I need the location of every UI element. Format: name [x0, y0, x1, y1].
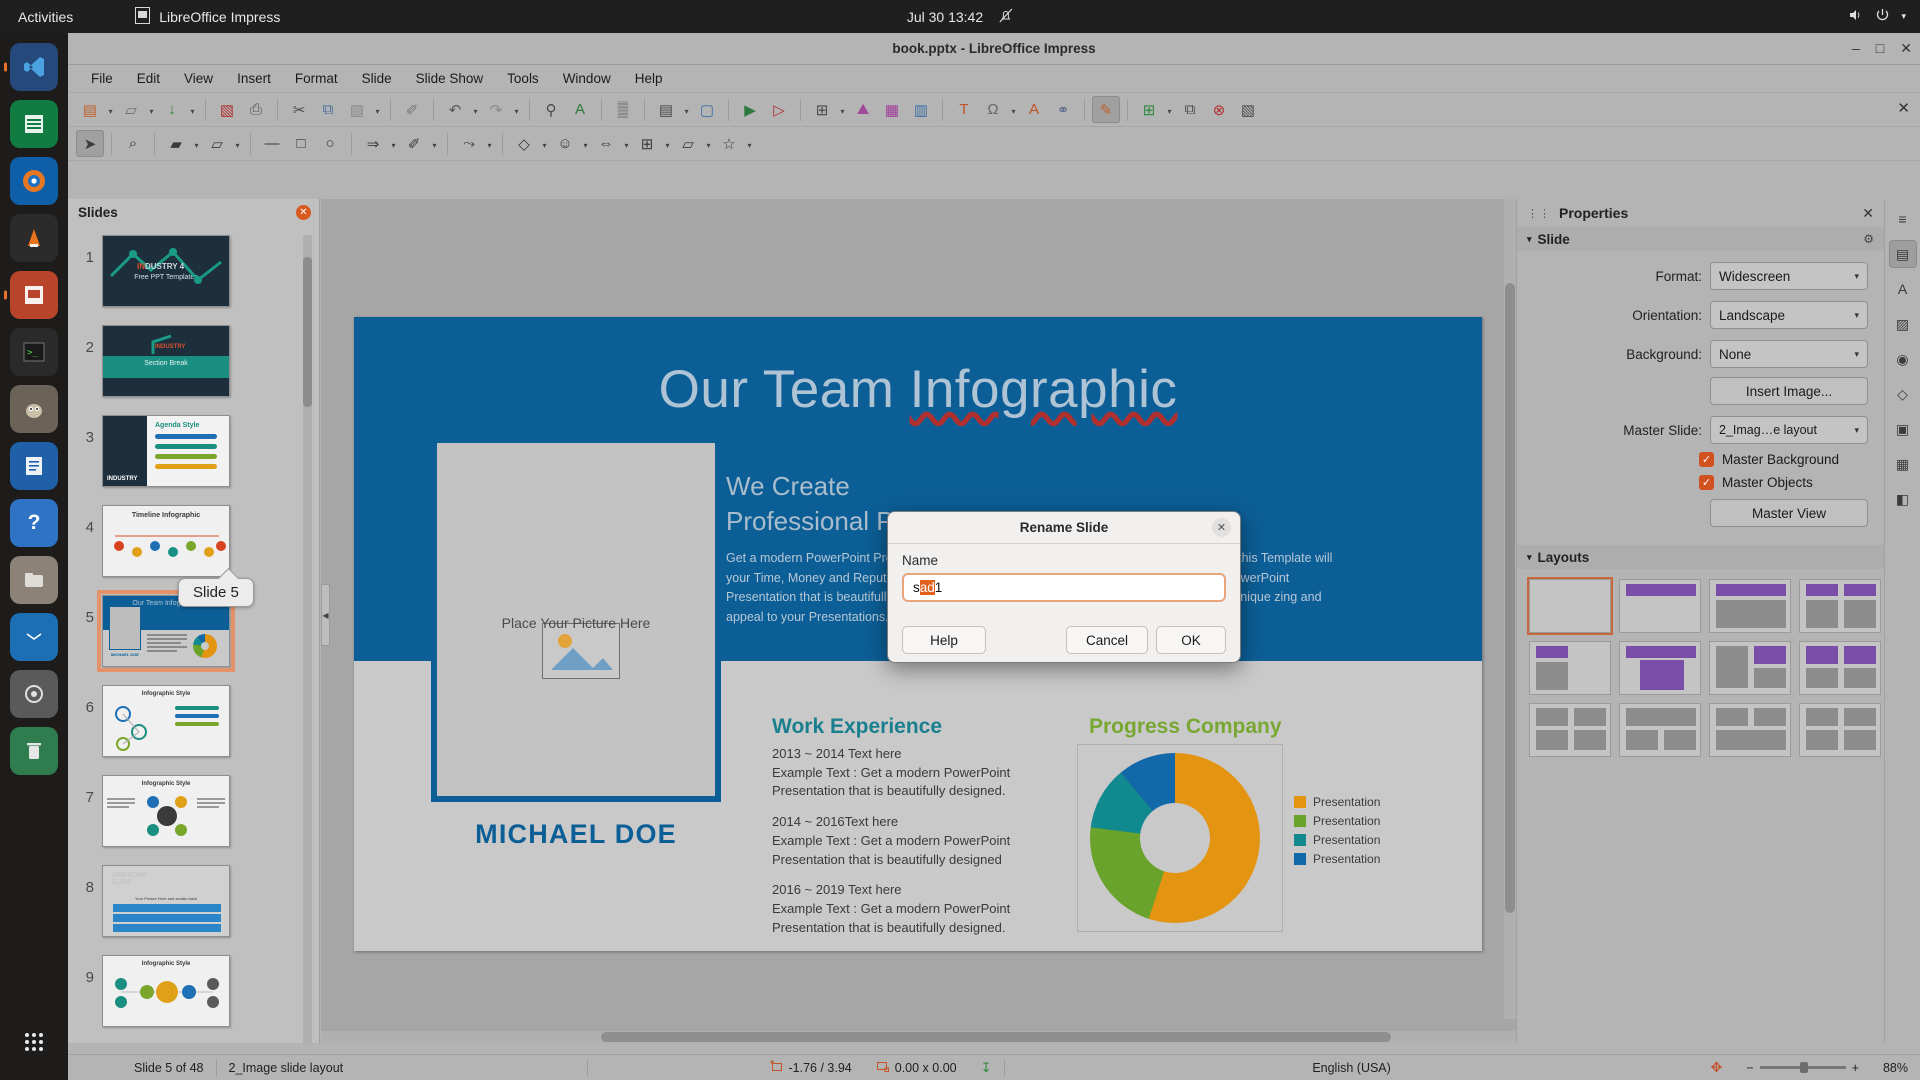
slide-subheading-line1: We Create — [726, 469, 1022, 504]
layout-block — [1626, 708, 1696, 726]
display-grid-icon[interactable]: ▒ — [609, 96, 637, 123]
layout-block — [1536, 730, 1568, 750]
menu-view[interactable]: View — [173, 68, 224, 89]
chevron-down-icon[interactable]: ▾ — [429, 130, 440, 157]
image-icon — [542, 623, 620, 679]
slide-thumbnail-preview[interactable]: Section BreakINDUSTRY — [102, 325, 230, 397]
master-view-button[interactable]: Master View — [1710, 499, 1868, 527]
layout-block — [1844, 668, 1876, 688]
layout-option-3[interactable] — [1709, 579, 1791, 633]
menu-file[interactable]: File — [80, 68, 124, 89]
orientation-row: Orientation: Landscape ▾ — [1517, 301, 1868, 329]
master-slide-dropdown[interactable]: 2_Imag…e layout ▾ — [1710, 416, 1868, 444]
slide-number: 8 — [72, 865, 102, 896]
chevron-down-icon[interactable]: ▾ — [1008, 96, 1019, 123]
layout-option-9[interactable] — [1529, 703, 1611, 757]
activities-button[interactable]: Activities — [18, 9, 73, 25]
layout-option-7[interactable] — [1709, 641, 1791, 695]
layout-option-11[interactable] — [1709, 703, 1791, 757]
clock-area[interactable]: Jul 30 13:42 — [907, 8, 1013, 26]
active-app-indicator[interactable]: LibreOffice Impress — [135, 7, 280, 27]
position-icon — [770, 1060, 783, 1075]
export-pdf-icon[interactable]: ▧ — [213, 96, 241, 123]
delete-slide-icon[interactable]: ⊗ — [1205, 96, 1233, 123]
layout-block — [1806, 708, 1838, 726]
chevron-down-icon[interactable]: ▾ — [372, 96, 383, 123]
name-input[interactable]: sad1 — [902, 573, 1226, 602]
cursor-position: -1.76 / 3.94 — [758, 1059, 864, 1077]
master-background-label: Master Background — [1722, 452, 1839, 467]
format-row: Format: Widescreen ▾ — [1517, 262, 1868, 290]
svg-text:>_: >_ — [27, 348, 38, 358]
select-tool-icon[interactable]: ➤ — [76, 130, 104, 157]
background-dropdown[interactable]: None ▾ — [1710, 340, 1868, 368]
new-document-icon[interactable]: ▤ — [76, 96, 104, 123]
symbol-shapes-icon[interactable]: ☺ — [551, 130, 579, 157]
bell-muted-icon — [999, 8, 1013, 26]
slide-thumbnail-preview[interactable]: Infographic Style — [102, 775, 230, 847]
legend-item: Presentation — [1294, 795, 1380, 809]
clock-label: Jul 30 13:42 — [907, 9, 983, 25]
basic-shapes-icon[interactable]: ◇ — [510, 130, 538, 157]
menu-edit[interactable]: Edit — [126, 68, 171, 89]
slide-thumbnail-preview[interactable]: Infographic Style — [102, 955, 230, 1027]
chevron-down-icon: ▾ — [1854, 271, 1859, 282]
insert-image-icon[interactable]: ⛰ — [849, 96, 877, 123]
layout-block — [1754, 646, 1786, 664]
slide-panel: Slides ✕ 1Free PPT TemplatesINDUSTRY 42S… — [68, 199, 320, 1043]
insert-table-icon[interactable]: ⊞ — [808, 96, 836, 123]
layout-gallery[interactable] — [1517, 569, 1884, 757]
slide-thumbnail-list[interactable]: 1Free PPT TemplatesINDUSTRY 42Section Br… — [68, 229, 306, 1043]
legend-swatch — [1294, 853, 1306, 865]
zoom-out-button[interactable]: − — [1746, 1061, 1753, 1075]
slide-thumbnail-preview[interactable]: Infographic Style — [102, 685, 230, 757]
chevron-down-icon[interactable]: ▾ — [703, 130, 714, 157]
layout-option-2[interactable] — [1619, 579, 1701, 633]
flowchart-shapes-icon[interactable]: ⊞ — [633, 130, 661, 157]
slide-thumbnail-7[interactable]: 7Infographic Style — [68, 775, 306, 847]
show-applications-button[interactable] — [10, 1018, 58, 1066]
master-slides-icon[interactable]: ▣ — [1889, 415, 1917, 443]
layout-option-4[interactable] — [1799, 579, 1881, 633]
dock-item-impress[interactable] — [10, 271, 58, 319]
menu-slide-show[interactable]: Slide Show — [405, 68, 495, 89]
input-value-suffix: 1 — [935, 580, 943, 595]
picture-placeholder[interactable]: Place Your Picture Here — [431, 437, 721, 802]
stars-and-banners-icon[interactable]: ☆ — [715, 130, 743, 157]
connectors-icon[interactable]: ⤳ — [455, 130, 483, 157]
block-arrows-icon[interactable]: ⇔ — [592, 130, 620, 157]
work-experience-item: 2013 ~ 2014 Text hereExample Text : Get … — [772, 745, 1072, 801]
close-icon[interactable]: ✕ — [296, 205, 311, 220]
checkbox-checked-icon: ✓ — [1699, 475, 1714, 490]
ellipse-icon[interactable]: ○ — [316, 130, 344, 157]
layout-block — [1716, 600, 1786, 628]
zoom-tool-icon[interactable]: ⌕ — [119, 130, 147, 157]
layout-block — [1806, 646, 1838, 664]
legend-item: Presentation — [1294, 852, 1380, 866]
properties-icon[interactable]: ▤ — [1889, 240, 1917, 268]
work-experience-heading[interactable]: Work Experience — [772, 715, 942, 739]
print-icon[interactable]: ⎙ — [242, 96, 270, 123]
slide-panel-title: Slides — [78, 205, 118, 220]
master-background-checkbox[interactable]: ✓ Master Background — [1699, 452, 1884, 467]
slide-thumbnail-6[interactable]: 6Infographic Style — [68, 685, 306, 757]
layout-name: 2_Image slide layout — [217, 1059, 587, 1077]
legend-swatch — [1294, 834, 1306, 846]
slide-thumbnail-4[interactable]: 4Timeline Infographic — [68, 505, 306, 577]
legend-item: Presentation — [1294, 833, 1380, 847]
save-status-icon[interactable]: ↧ — [969, 1059, 1004, 1077]
edit-area-horizontal-scrollbar[interactable] — [321, 1031, 1516, 1043]
legend-label: Presentation — [1313, 852, 1380, 866]
insert-hyperlink-icon[interactable]: ⚭ — [1049, 96, 1077, 123]
donut-chart — [1090, 753, 1260, 923]
rectangle-icon[interactable]: □ — [287, 130, 315, 157]
panel-collapse-handle-left[interactable]: ◀ — [321, 584, 330, 646]
work-experience-period: 2013 ~ 2014 Text here — [772, 745, 1072, 764]
show-draw-functions-icon[interactable]: ✎ — [1092, 96, 1120, 123]
master-objects-label: Master Objects — [1722, 475, 1813, 490]
progress-chart[interactable] — [1077, 744, 1283, 932]
chevron-down-icon: ▾ — [1854, 349, 1859, 360]
chevron-down-icon[interactable]: ▾ — [187, 96, 198, 123]
layout-block — [1716, 730, 1786, 750]
find-and-replace-icon[interactable]: ⚲ — [537, 96, 565, 123]
chevron-down-icon[interactable]: ▾ — [232, 130, 243, 157]
maximize-button[interactable]: □ — [1876, 40, 1884, 57]
insert-fontwork-icon[interactable]: A — [1020, 96, 1048, 123]
layout-block — [1844, 730, 1876, 750]
layout-block — [1844, 708, 1876, 726]
fill-color-icon[interactable]: ▰ — [162, 130, 190, 157]
gnome-top-bar: Activities LibreOffice Impress Jul 30 13… — [0, 0, 1920, 33]
ubuntu-dock: >_ ? — [0, 33, 68, 1080]
close-button[interactable]: ✕ — [1900, 40, 1912, 57]
help-button[interactable]: Help — [902, 626, 986, 654]
chevron-down-icon[interactable]: ▾ — [681, 96, 692, 123]
work-experience-line1: Example Text : Get a modern PowerPoint — [772, 764, 1072, 783]
open-document-icon[interactable]: ▱ — [117, 96, 145, 123]
chevron-down-icon[interactable]: ▾ — [105, 96, 116, 123]
redo-icon[interactable]: ↷ — [482, 96, 510, 123]
menu-help[interactable]: Help — [624, 68, 674, 89]
dock-item-terminal[interactable]: >_ — [10, 328, 58, 376]
work-experience-line2: Presentation that is beautifully designe… — [772, 782, 1072, 801]
chevron-down-icon[interactable]: ▾ — [484, 130, 495, 157]
status-spacer-2 — [588, 1059, 758, 1077]
menu-format[interactable]: Format — [284, 68, 349, 89]
slide-thumbnail-2[interactable]: 2Section BreakINDUSTRY — [68, 325, 306, 397]
scrollbar-thumb[interactable] — [1505, 283, 1515, 913]
window-title: book.pptx - LibreOffice Impress — [892, 41, 1095, 56]
gallery-icon[interactable]: ▨ — [1889, 310, 1917, 338]
ok-button[interactable]: OK — [1156, 626, 1226, 654]
close-icon[interactable]: ✕ — [1862, 205, 1874, 222]
layout-block — [1806, 600, 1838, 628]
person-name[interactable]: MICHAEL DOE — [431, 819, 721, 850]
work-experience-line1: Example Text : Get a modern PowerPoint — [772, 900, 1072, 919]
scrollbar-thumb[interactable] — [303, 257, 312, 407]
slide-number: 3 — [72, 415, 102, 446]
slide-number: 9 — [72, 955, 102, 986]
layout-block — [1664, 730, 1696, 750]
orientation-dropdown[interactable]: Landscape ▾ — [1710, 301, 1868, 329]
undo-icon[interactable]: ↶ — [441, 96, 469, 123]
language-indicator[interactable]: English (USA) — [1005, 1059, 1699, 1077]
slide-title-text-plain: Our Team — [659, 360, 910, 419]
chevron-down-icon[interactable]: ▾ — [837, 96, 848, 123]
layout-block — [1806, 668, 1838, 688]
duplicate-slide-icon[interactable]: ⧉ — [1176, 96, 1204, 123]
chevron-down-icon: ▾ — [1854, 425, 1859, 436]
chevron-down-icon[interactable]: ▾ — [191, 130, 202, 157]
layout-block — [1844, 646, 1876, 664]
chevron-down-icon[interactable]: ▾ — [744, 130, 755, 157]
drawing-toolbar: ➤⌕▰▾▱▾―□○⇒▾✐▾⤳▾◇▾☺▾⇔▾⊞▾▱▾☆▾ — [68, 127, 1920, 161]
fit-slide-icon[interactable]: ✥ — [1699, 1059, 1735, 1077]
status-bar: Slide 5 of 48 2_Image slide layout -1.76… — [68, 1054, 1920, 1080]
slide-panel-header: Slides ✕ — [68, 199, 319, 225]
background-value: None — [1719, 347, 1751, 362]
save-document-icon[interactable]: ↓ — [158, 96, 186, 123]
layout-block — [1626, 584, 1696, 596]
chevron-down-icon: ▾ — [1901, 11, 1906, 22]
drag-grip-icon[interactable]: ⋮⋮ — [1527, 207, 1551, 220]
dock-item-firefox[interactable] — [10, 157, 58, 205]
menu-window[interactable]: Window — [552, 68, 622, 89]
legend-label: Presentation — [1313, 795, 1380, 809]
start-from-first-slide-icon[interactable]: ▶ — [736, 96, 764, 123]
insert-chart-icon[interactable]: ▥ — [907, 96, 935, 123]
menu-bar: File Edit View Insert Format Slide Slide… — [68, 65, 1920, 93]
menu-tools[interactable]: Tools — [496, 68, 550, 89]
zoom-slider[interactable]: − + — [1734, 1059, 1871, 1077]
dialog-title-bar: Rename Slide ✕ — [888, 512, 1240, 544]
input-value-prefix: s — [913, 580, 920, 595]
dock-item-files[interactable] — [10, 556, 58, 604]
chevron-down-icon[interactable]: ▾ — [146, 96, 157, 123]
shapes-icon[interactable]: ◇ — [1889, 380, 1917, 408]
spelling-icon[interactable]: A — [566, 96, 594, 123]
scrollbar-thumb[interactable] — [601, 1032, 1391, 1042]
rename-slide-dialog[interactable]: Rename Slide ✕ Name sad1 Help Cancel OK — [887, 511, 1241, 663]
clone-formatting-icon[interactable]: ✐ — [398, 96, 426, 123]
dock-item-vlc[interactable] — [10, 214, 58, 262]
layout-block — [1716, 584, 1786, 596]
display-views-icon[interactable]: ▤ — [652, 96, 680, 123]
input-value-selected: ad — [920, 580, 935, 595]
work-experience-line2: Presentation that is beautifully designe… — [772, 919, 1072, 938]
slide-thumbnail-preview[interactable]: Agenda StyleINDUSTRY — [102, 415, 230, 487]
menu-slide[interactable]: Slide — [351, 68, 403, 89]
close-icon[interactable]: ✕ — [1212, 518, 1231, 537]
layouts-section-label: Layouts — [1538, 550, 1590, 565]
chart-legend: PresentationPresentationPresentationPres… — [1294, 795, 1380, 871]
background-label: Background: — [1626, 347, 1702, 362]
format-dropdown[interactable]: Widescreen ▾ — [1710, 262, 1868, 290]
object-size: 0.00 x 0.00 — [864, 1059, 969, 1077]
dock-item-thunderbird[interactable] — [10, 613, 58, 661]
dock-item-vscode[interactable] — [10, 43, 58, 91]
dock-item-writer[interactable] — [10, 442, 58, 490]
layout-option-6[interactable] — [1619, 641, 1701, 695]
minimize-button[interactable]: – — [1852, 40, 1860, 57]
chevron-down-icon[interactable]: ▾ — [1164, 96, 1175, 123]
layout-block — [1574, 730, 1606, 750]
slide-transition-icon[interactable]: ◧ — [1889, 485, 1917, 513]
styles-icon[interactable]: A — [1889, 275, 1917, 303]
arrow-shape-icon[interactable]: ⇒ — [359, 130, 387, 157]
legend-label: Presentation — [1313, 833, 1380, 847]
layout-option-5[interactable] — [1529, 641, 1611, 695]
insert-media-icon[interactable]: ▦ — [878, 96, 906, 123]
new-slide-icon[interactable]: ⊞ — [1135, 96, 1163, 123]
slide-number: 5 — [72, 595, 102, 626]
dock-item-help[interactable]: ? — [10, 499, 58, 547]
chevron-down-icon[interactable]: ▾ — [662, 130, 673, 157]
layout-block — [1806, 730, 1838, 750]
active-app-label: LibreOffice Impress — [159, 9, 280, 25]
layout-block — [1626, 646, 1696, 658]
dialog-buttons: Help Cancel OK — [888, 626, 1240, 654]
name-label: Name — [902, 553, 1240, 568]
layout-option-12[interactable] — [1799, 703, 1881, 757]
properties-sidebar: ⋮⋮ Properties ✕ ▾ Slide ⚙ Format: Widesc… — [1516, 199, 1884, 1043]
chevron-down-icon[interactable]: ▾ — [511, 96, 522, 123]
work-experience-item: 2016 ~ 2019 Text hereExample Text : Get … — [772, 881, 1072, 937]
checkbox-checked-icon: ✓ — [1699, 452, 1714, 467]
layout-block — [1716, 646, 1748, 688]
chevron-down-icon[interactable]: ▾ — [470, 96, 481, 123]
dock-item-trash[interactable] — [10, 727, 58, 775]
copy-icon[interactable]: ⧉ — [314, 96, 342, 123]
chevron-down-icon[interactable]: ▾ — [388, 130, 399, 157]
slide-properties-icon[interactable]: ▧ — [1234, 96, 1262, 123]
slide-thumbnail-preview[interactable]: Timeline Infographic — [102, 505, 230, 577]
gear-icon[interactable]: ⚙ — [1863, 232, 1874, 246]
start-from-current-slide-icon[interactable]: ▷ — [765, 96, 793, 123]
animation-icon[interactable]: ▦ — [1889, 450, 1917, 478]
orientation-label: Orientation: — [1632, 308, 1702, 323]
chevron-down-icon: ▾ — [1527, 552, 1532, 563]
format-value: Widescreen — [1719, 269, 1790, 284]
dialog-title: Rename Slide — [1020, 520, 1109, 535]
orientation-value: Landscape — [1719, 308, 1785, 323]
master-slide-label: Master Slide: — [1623, 423, 1702, 438]
work-experience-list[interactable]: 2013 ~ 2014 Text hereExample Text : Get … — [772, 745, 1072, 949]
standard-toolbar: ▤▾▱▾↓▾▧⎙✂⧉▧▾✐↶▾↷▾⚲A▒▤▾▢▶▷⊞▾⛰▦▥TΩ▾A⚭✎⊞▾⧉⊗… — [68, 93, 1920, 127]
slide-title[interactable]: Our Team Infographic — [354, 359, 1482, 420]
slide-thumbnail-3[interactable]: 3Agenda StyleINDUSTRY — [68, 415, 306, 487]
work-experience-line2: Presentation that is beautifully designe… — [772, 851, 1072, 870]
legend-swatch — [1294, 815, 1306, 827]
zoom-knob[interactable] — [1800, 1062, 1808, 1073]
properties-title: Properties — [1559, 205, 1628, 221]
system-tray[interactable]: ▾ — [1848, 8, 1906, 25]
menu-insert[interactable]: Insert — [226, 68, 282, 89]
layout-block — [1716, 708, 1748, 726]
edit-area-vertical-scrollbar[interactable] — [1504, 199, 1516, 1019]
chevron-down-icon: ▾ — [1527, 234, 1532, 245]
insert-text-box-icon[interactable]: T — [950, 96, 978, 123]
legend-swatch — [1294, 796, 1306, 808]
insert-special-character-icon[interactable]: Ω — [979, 96, 1007, 123]
chevron-down-icon[interactable]: ▾ — [621, 130, 632, 157]
insert-line-icon[interactable]: ― — [258, 130, 286, 157]
master-slide-row: Master Slide: 2_Imag…e layout ▾ — [1517, 416, 1868, 444]
zoom-level[interactable]: 88% — [1871, 1059, 1920, 1077]
layout-block — [1806, 584, 1838, 596]
volume-icon — [1848, 8, 1864, 25]
line-color-icon[interactable]: ▱ — [203, 130, 231, 157]
slide-section-header[interactable]: ▾ Slide ⚙ — [1517, 227, 1884, 251]
insert-image-button[interactable]: Insert Image... — [1710, 377, 1868, 405]
background-row: Background: None ▾ — [1517, 340, 1868, 368]
chevron-down-icon: ▾ — [1854, 310, 1859, 321]
slide-thumbnail-1[interactable]: 1Free PPT TemplatesINDUSTRY 4 — [68, 235, 306, 307]
impress-document-icon — [135, 7, 150, 27]
chevron-down-icon[interactable]: ▾ — [539, 130, 550, 157]
slide-number: 2 — [72, 325, 102, 356]
dock-item-settings[interactable] — [10, 670, 58, 718]
slide-thumbnail-9[interactable]: 9Infographic Style — [68, 955, 306, 1027]
cut-icon[interactable]: ✂ — [285, 96, 313, 123]
work-experience-period: 2016 ~ 2019 Text here — [772, 881, 1072, 900]
window-controls[interactable]: – □ ✕ — [1852, 40, 1912, 57]
sidebar-settings-icon[interactable]: ≡ — [1889, 205, 1917, 233]
layout-option-10[interactable] — [1619, 703, 1701, 757]
layouts-section-header[interactable]: ▾ Layouts — [1517, 545, 1884, 569]
callout-shapes-icon[interactable]: ▱ — [674, 130, 702, 157]
paste-icon[interactable]: ▧ — [343, 96, 371, 123]
sidebar-icon-rail: ≡▤A▨◉◇▣▦◧ — [1884, 199, 1920, 1043]
slide-thumbnail-preview[interactable]: AWESOMESLIDEYour Picture Here and sendto… — [102, 865, 230, 937]
chevron-down-icon[interactable]: ▾ — [580, 130, 591, 157]
layout-option-8[interactable] — [1799, 641, 1881, 695]
slide-thumbnail-preview[interactable]: Free PPT TemplatesINDUSTRY 4 — [102, 235, 230, 307]
navigator-icon[interactable]: ◉ — [1889, 345, 1917, 373]
size-icon — [876, 1060, 889, 1075]
slide-number: 1 — [72, 235, 102, 266]
properties-header: ⋮⋮ Properties ✕ — [1517, 199, 1884, 227]
cancel-button[interactable]: Cancel — [1066, 626, 1148, 654]
picture-placeholder-label: Place Your Picture Here — [437, 615, 715, 631]
master-slide-icon[interactable]: ▢ — [693, 96, 721, 123]
zoom-in-button[interactable]: + — [1852, 1061, 1859, 1075]
status-spacer — [68, 1059, 122, 1077]
progress-company-heading[interactable]: Progress Company — [1089, 715, 1282, 739]
slide-number: 7 — [72, 775, 102, 806]
layout-block — [1574, 708, 1606, 726]
layout-block — [1754, 668, 1786, 688]
dock-item-spreadsheet[interactable] — [10, 100, 58, 148]
dock-item-gimp[interactable] — [10, 385, 58, 433]
layout-option-1[interactable] — [1529, 579, 1611, 633]
power-icon — [1876, 8, 1889, 25]
zoom-track[interactable] — [1760, 1066, 1846, 1069]
master-objects-checkbox[interactable]: ✓ Master Objects — [1699, 475, 1884, 490]
close-document-icon[interactable]: ✕ — [1897, 99, 1910, 117]
curves-and-polygons-icon[interactable]: ✐ — [400, 130, 428, 157]
layout-block — [1754, 708, 1786, 726]
layout-block — [1844, 584, 1876, 596]
slide-thumbnail-8[interactable]: 8AWESOMESLIDEYour Picture Here and sendt… — [68, 865, 306, 937]
slide-panel-scrollbar[interactable] — [303, 235, 312, 1045]
slide-title-text-misspelled: Infographic — [910, 360, 1178, 419]
slide-tooltip: Slide 5 — [178, 578, 254, 607]
